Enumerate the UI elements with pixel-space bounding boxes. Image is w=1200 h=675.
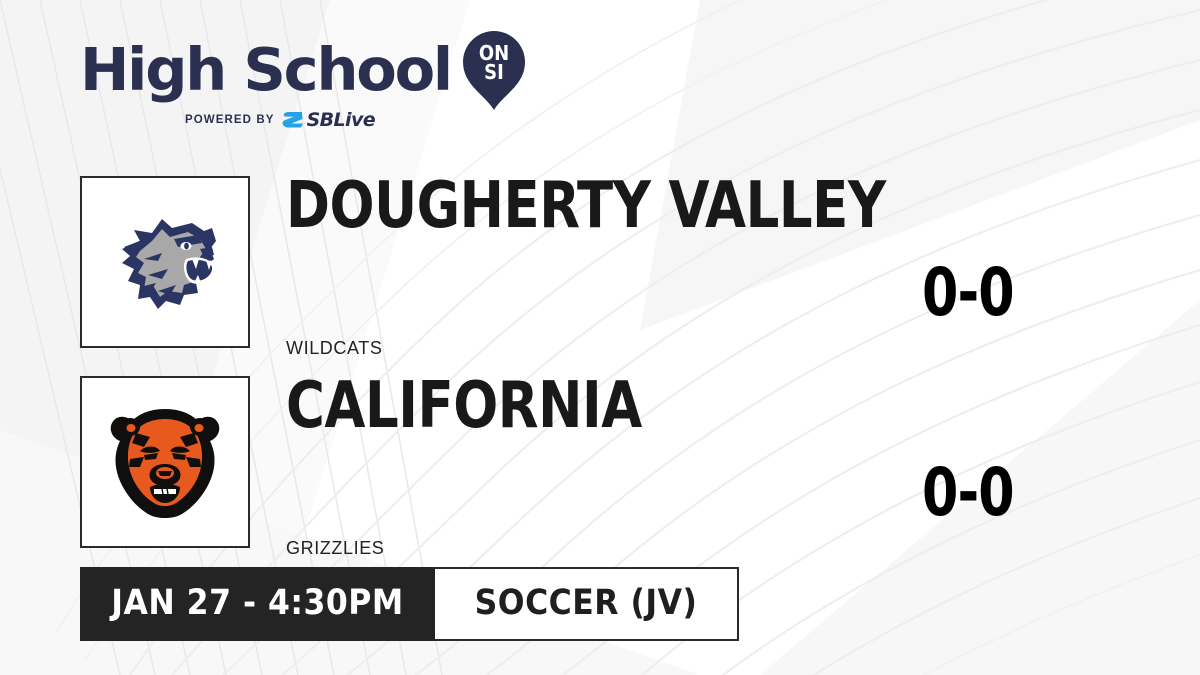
team-score-california: 0-0 xyxy=(922,460,1014,526)
team-name-dougherty-valley: DOUGHERTY VALLEY xyxy=(286,174,886,238)
brand-lockup: High School ON SI POWERED BY SBLive xyxy=(80,34,510,134)
matchup-graphic: High School ON SI POWERED BY SBLive xyxy=(0,0,1200,675)
brand-row: High School ON SI xyxy=(80,34,510,106)
wildcat-head-icon xyxy=(100,197,230,327)
team-mascot-grizzlies: GRIZZLIES xyxy=(286,538,384,558)
sblive-swoosh-icon xyxy=(282,110,304,130)
sblive-logo: SBLive xyxy=(282,110,375,130)
grizzly-bear-head-icon xyxy=(100,397,230,527)
team-logo-box-dougherty-valley xyxy=(80,176,250,348)
on-si-pin-line2-text: SI xyxy=(484,60,504,84)
powered-by-row: POWERED BY SBLive xyxy=(80,110,480,130)
powered-by-label: POWERED BY xyxy=(185,114,275,126)
team-name-california: CALIFORNIA xyxy=(286,374,642,438)
team-mascot-wildcats: WILDCATS xyxy=(286,338,382,358)
game-sport-level: SOCCER (JV) xyxy=(435,567,739,641)
sblive-wordmark: SBLive xyxy=(307,111,375,130)
team-logo-box-california xyxy=(80,376,250,548)
on-si-pin-icon: ON SI xyxy=(461,29,527,111)
brand-wordmark: High School xyxy=(80,37,451,103)
team-score-dougherty-valley: 0-0 xyxy=(922,260,1014,326)
game-datetime: JAN 27 - 4:30PM xyxy=(80,567,435,641)
game-info-bar: JAN 27 - 4:30PM SOCCER (JV) xyxy=(80,567,739,641)
